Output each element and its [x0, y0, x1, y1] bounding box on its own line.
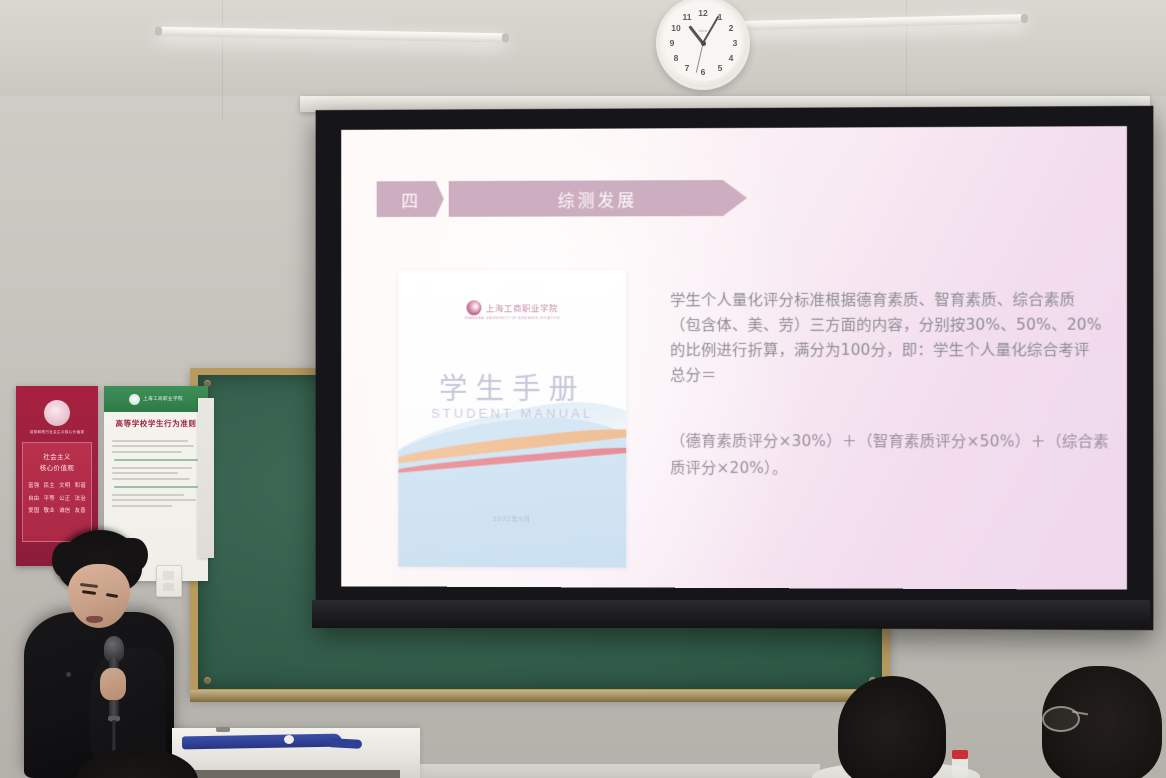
presentation-slide: 四 综测发展 上海工商职业学院 SHANGHAI UNIVERSITY OF B…	[341, 126, 1127, 590]
student-code-title: 高等学校学生行为准则	[104, 418, 208, 429]
slide-section-title: 综测发展	[558, 186, 638, 211]
university-name: 上海工商职业学院	[486, 302, 558, 314]
slide-banner-number-chevron: 四	[377, 181, 444, 217]
clock-number: 8	[670, 53, 682, 63]
university-name-english: SHANGHAI UNIVERSITY OF BUSINESS VOCATION	[398, 316, 626, 320]
university-logo: 上海工商职业学院	[398, 300, 626, 315]
core-values-title-line2: 核心价值观	[23, 464, 91, 473]
slide-banner-title-chevron: 综测发展	[449, 180, 747, 217]
manual-date: 2022年9月	[398, 513, 626, 524]
clock-number: 6	[697, 67, 709, 77]
desk-edge	[420, 764, 820, 778]
chalk-rail	[190, 690, 890, 702]
audience-glasses	[1042, 706, 1080, 732]
clock-number: 5	[714, 63, 726, 73]
wall-seam	[222, 0, 223, 120]
classroom-photo: idea 12 1 2 3 4 5 6 7 8 9 10 11	[0, 0, 1166, 778]
clock-number: 7	[681, 63, 693, 73]
student-code-logo-icon	[129, 394, 140, 405]
core-value-item: 平等	[44, 494, 55, 502]
core-values-list: 富强 民主 文明 和谐 自由 平等 公正 法治 爱国 敬业 诚信 友善	[23, 481, 91, 514]
presenter-hand	[100, 668, 126, 700]
projector-screen-bottom-bar	[312, 600, 1150, 628]
core-value-item: 爱国	[28, 506, 39, 514]
clock-number: 3	[729, 38, 741, 48]
student-code-header: 上海工商职业学院	[104, 386, 208, 412]
podium-blue-cloth-end	[330, 738, 362, 749]
presenter-mouth	[86, 616, 103, 623]
core-values-row: 富强 民主 文明 和谐	[26, 481, 88, 489]
core-value-item: 公正	[59, 494, 70, 502]
podium-white-object	[284, 735, 294, 744]
slide-banner: 四 综测发展	[377, 180, 747, 217]
tube-cap	[155, 27, 162, 36]
wall-clock: idea 12 1 2 3 4 5 6 7 8 9 10 11	[656, 0, 750, 90]
core-values-panel: 社会主义 核心价值观 富强 民主 文明 和谐 自由 平等 公正 法治 爱国 敬业	[22, 442, 92, 542]
poster-side-strip	[198, 398, 214, 558]
core-value-item: 友善	[75, 506, 86, 514]
clock-number: 4	[725, 53, 737, 63]
clock-number: 9	[666, 38, 678, 48]
core-values-emblem-icon	[44, 400, 70, 426]
clock-center-pin	[701, 41, 706, 46]
core-value-item: 富强	[28, 481, 39, 489]
core-value-item: 法治	[75, 494, 86, 502]
podium-leg	[186, 770, 400, 778]
audience-head-center	[838, 676, 946, 778]
tube-cap	[1021, 14, 1028, 23]
slide-section-number: 四	[401, 187, 419, 212]
clock-brand: idea	[699, 28, 708, 33]
core-value-item: 自由	[28, 494, 39, 502]
core-value-item: 敬业	[44, 506, 55, 514]
core-values-row: 自由 平等 公正 法治	[26, 494, 88, 502]
clock-face: idea 12 1 2 3 4 5 6 7 8 9 10 11	[665, 5, 741, 81]
core-value-item: 文明	[59, 481, 70, 489]
presenter-coat-button	[66, 672, 71, 677]
manual-title: 学生手册	[398, 366, 626, 408]
podium-clip	[216, 727, 230, 732]
podium-blue-cloth	[182, 734, 342, 750]
presenter	[24, 528, 184, 778]
slide-paragraph-2: （德育素质评分×30%）＋（智育素质评分×50%）＋（综合素质评分×20%）。	[670, 428, 1113, 483]
student-manual-cover-image: 上海工商职业学院 SHANGHAI UNIVERSITY OF BUSINESS…	[398, 270, 626, 567]
manual-title-english: STUDENT MANUAL	[398, 406, 626, 421]
university-logo-icon	[466, 300, 481, 315]
clock-number: 12	[697, 8, 709, 18]
projector-screen: 四 综测发展 上海工商职业学院 SHANGHAI UNIVERSITY OF B…	[316, 106, 1154, 630]
core-values-title-line1: 社会主义	[23, 453, 91, 462]
student-code-school-name: 上海工商职业学院	[143, 396, 183, 402]
core-value-item: 和谐	[75, 481, 86, 489]
core-value-item: 诚信	[59, 506, 70, 514]
board-screw	[204, 677, 211, 684]
slide-paragraph-1: 学生个人量化评分标准根据德育素质、智育素质、综合素质（包含体、美、劳）三方面的内…	[670, 287, 1102, 388]
water-bottle-cap	[952, 750, 968, 759]
core-value-item: 民主	[44, 481, 55, 489]
presenter-hair	[120, 538, 148, 572]
core-values-emblem-caption: 培育和践行社会主义核心价值观	[30, 430, 85, 435]
tube-cap	[502, 33, 509, 42]
clock-number: 11	[681, 12, 693, 22]
clock-number: 10	[670, 23, 682, 33]
core-values-row: 爱国 敬业 诚信 友善	[26, 506, 88, 514]
clock-number: 2	[725, 23, 737, 33]
